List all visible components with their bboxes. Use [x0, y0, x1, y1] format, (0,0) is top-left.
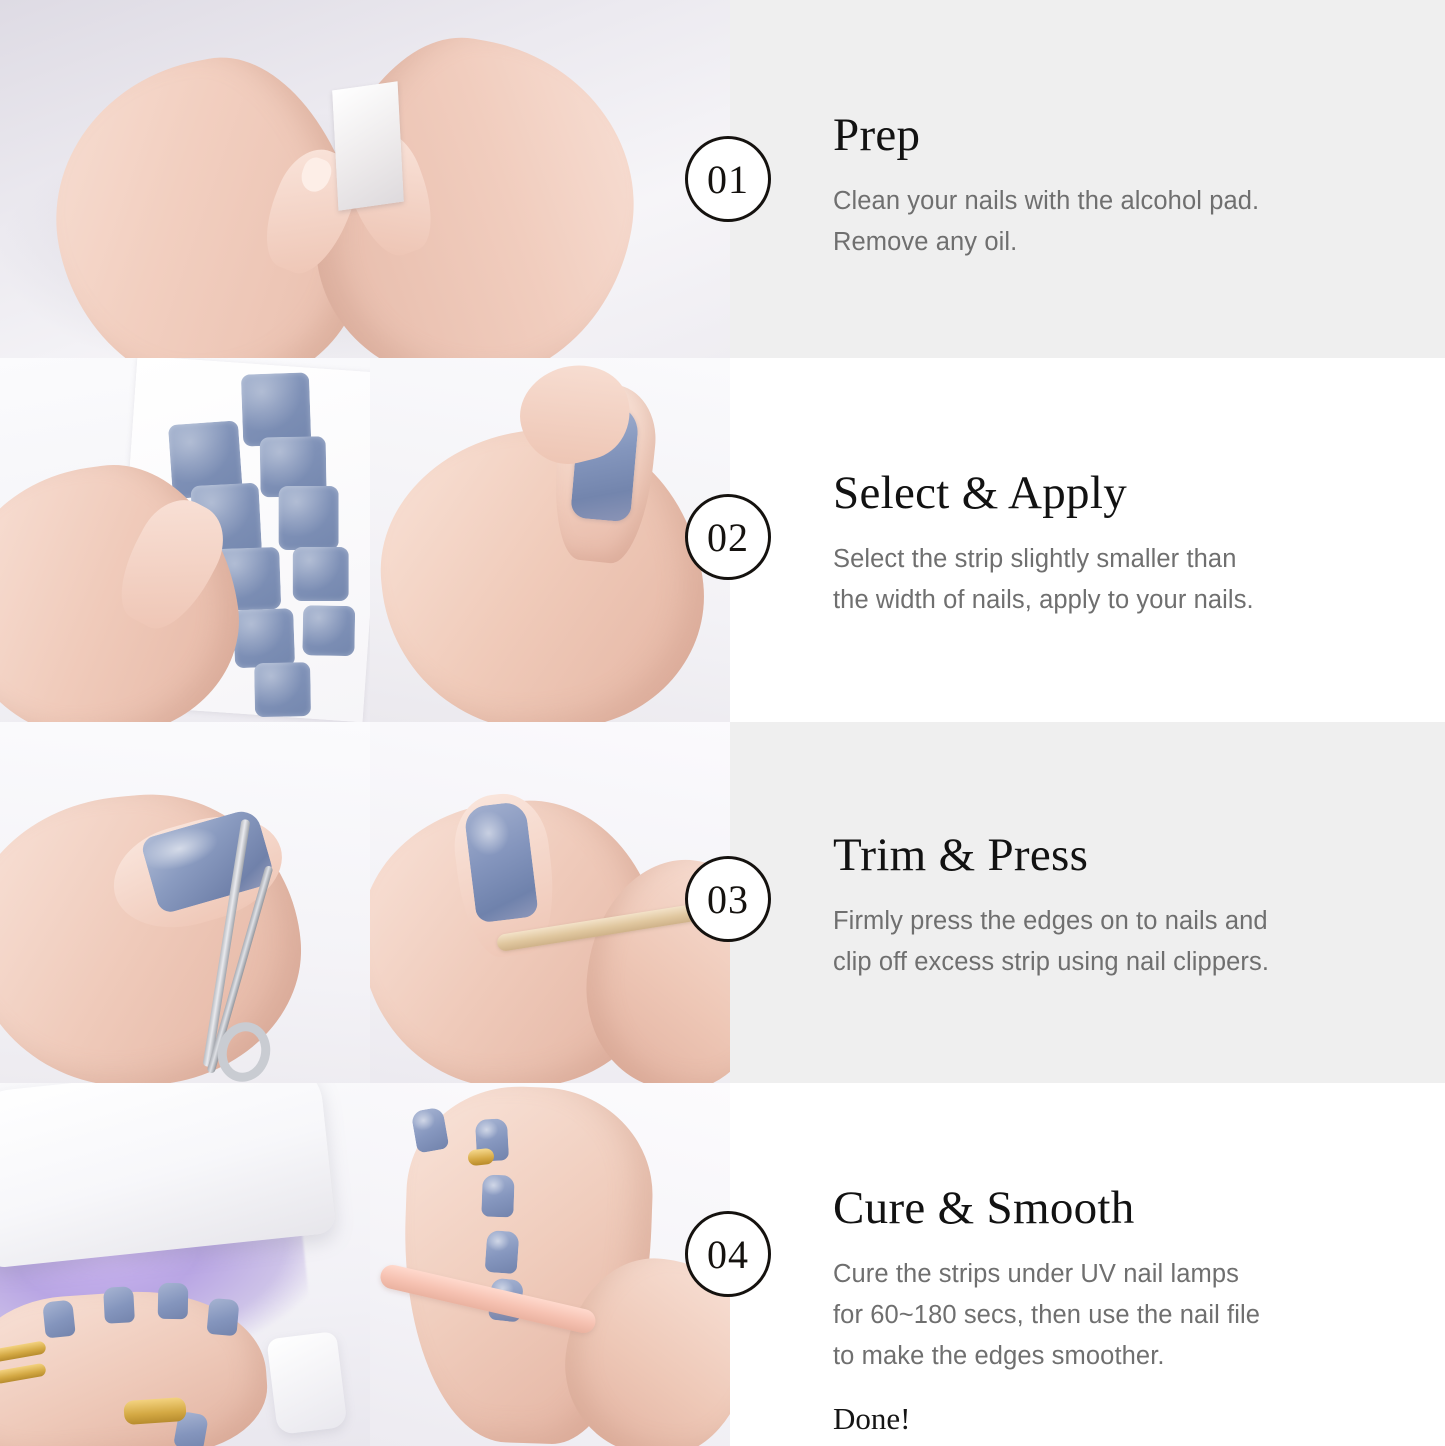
nail-strip — [279, 486, 339, 550]
photo-hand-holding-sheet-of-blue-nail-strips — [0, 358, 370, 722]
step-description-line: clip off excess strip using nail clipper… — [833, 942, 1269, 983]
step-number-label: 01 — [707, 156, 749, 203]
step-04-text-block: Cure & Smooth Cure the strips under UV n… — [833, 1185, 1260, 1437]
photo-trimming-excess-strip-with-nail-clippers — [0, 722, 370, 1083]
nail-strip — [293, 547, 349, 601]
step-number-label: 04 — [707, 1231, 749, 1278]
photo-two-hands-holding-alcohol-pad — [0, 0, 730, 358]
step-number-badge-02: 02 — [685, 494, 771, 580]
nail-strip — [233, 608, 295, 668]
step-04-text-column: 04 Cure & Smooth Cure the strips under U… — [730, 1083, 1445, 1446]
step-number-label: 02 — [707, 514, 749, 561]
gold-ring — [123, 1397, 187, 1425]
step-row-01: 01 Prep Clean your nails with the alcoho… — [0, 0, 1445, 358]
step-description-line: Clean your nails with the alcohol pad. — [833, 181, 1259, 222]
alcohol-pad-shape — [332, 81, 404, 210]
step-03-photo-column — [0, 722, 730, 1083]
cured-nail — [42, 1300, 76, 1339]
step-title-01: Prep — [833, 112, 1259, 159]
step-description-line: for 60~180 secs, then use the nail file — [833, 1295, 1260, 1336]
photo-pressing-strip-edges-with-wooden-stick — [370, 722, 730, 1083]
step-description-03: Firmly press the edges on to nails and c… — [833, 901, 1269, 983]
step-03-text-block: Trim & Press Firmly press the edges on t… — [833, 832, 1269, 983]
photo-filing-nail-edges-with-pink-nail-file — [370, 1083, 730, 1446]
step-row-02: 02 Select & Apply Select the strip sligh… — [0, 358, 1445, 722]
finished-nail — [481, 1174, 514, 1217]
step-title-02: Select & Apply — [833, 470, 1254, 517]
cured-nail — [103, 1286, 135, 1324]
uv-lamp-leg — [266, 1331, 347, 1435]
step-number-badge-01: 01 — [685, 136, 771, 222]
nail-strip — [241, 372, 311, 446]
step-description-01: Clean your nails with the alcohol pad. R… — [833, 181, 1259, 263]
step-description-line: to make the edges smoother. — [833, 1336, 1260, 1377]
finished-nail — [485, 1230, 520, 1274]
step-02-photo-column — [0, 358, 730, 722]
photo-hand-curing-nails-under-uv-lamp — [0, 1083, 370, 1446]
step-number-badge-03: 03 — [685, 856, 771, 942]
step-description-line: Firmly press the edges on to nails and — [833, 901, 1269, 942]
step-description-line: Cure the strips under UV nail lamps — [833, 1254, 1260, 1295]
step-02-text-block: Select & Apply Select the strip slightly… — [833, 470, 1254, 621]
step-03-text-column: 03 Trim & Press Firmly press the edges o… — [730, 722, 1445, 1083]
cured-nail — [158, 1283, 189, 1320]
step-description-04: Cure the strips under UV nail lamps for … — [833, 1254, 1260, 1377]
step-number-badge-04: 04 — [685, 1211, 771, 1297]
step-description-line: Select the strip slightly smaller than — [833, 539, 1254, 580]
step-row-03: 03 Trim & Press Firmly press the edges o… — [0, 722, 1445, 1083]
cured-nail — [206, 1298, 239, 1336]
step-description-line: the width of nails, apply to your nails. — [833, 580, 1254, 621]
instruction-sheet: 01 Prep Clean your nails with the alcoho… — [0, 0, 1445, 1446]
step-01-text-column: 01 Prep Clean your nails with the alcoho… — [730, 0, 1445, 358]
nail-strip — [302, 605, 355, 656]
step-01-photo-column — [0, 0, 730, 358]
step-04-photo-column — [0, 1083, 730, 1446]
step-row-04: 04 Cure & Smooth Cure the strips under U… — [0, 1083, 1445, 1446]
step-description-line: Remove any oil. — [833, 222, 1259, 263]
nail-strip — [254, 662, 311, 717]
step-title-04: Cure & Smooth — [833, 1185, 1260, 1232]
step-description-02: Select the strip slightly smaller than t… — [833, 539, 1254, 621]
step-02-text-column: 02 Select & Apply Select the strip sligh… — [730, 358, 1445, 722]
step-number-label: 03 — [707, 876, 749, 923]
done-label: Done! — [833, 1401, 1260, 1437]
step-title-03: Trim & Press — [833, 832, 1269, 879]
step-01-text-block: Prep Clean your nails with the alcohol p… — [833, 112, 1259, 263]
photo-applying-blue-strip-to-thumbnail — [370, 358, 730, 722]
